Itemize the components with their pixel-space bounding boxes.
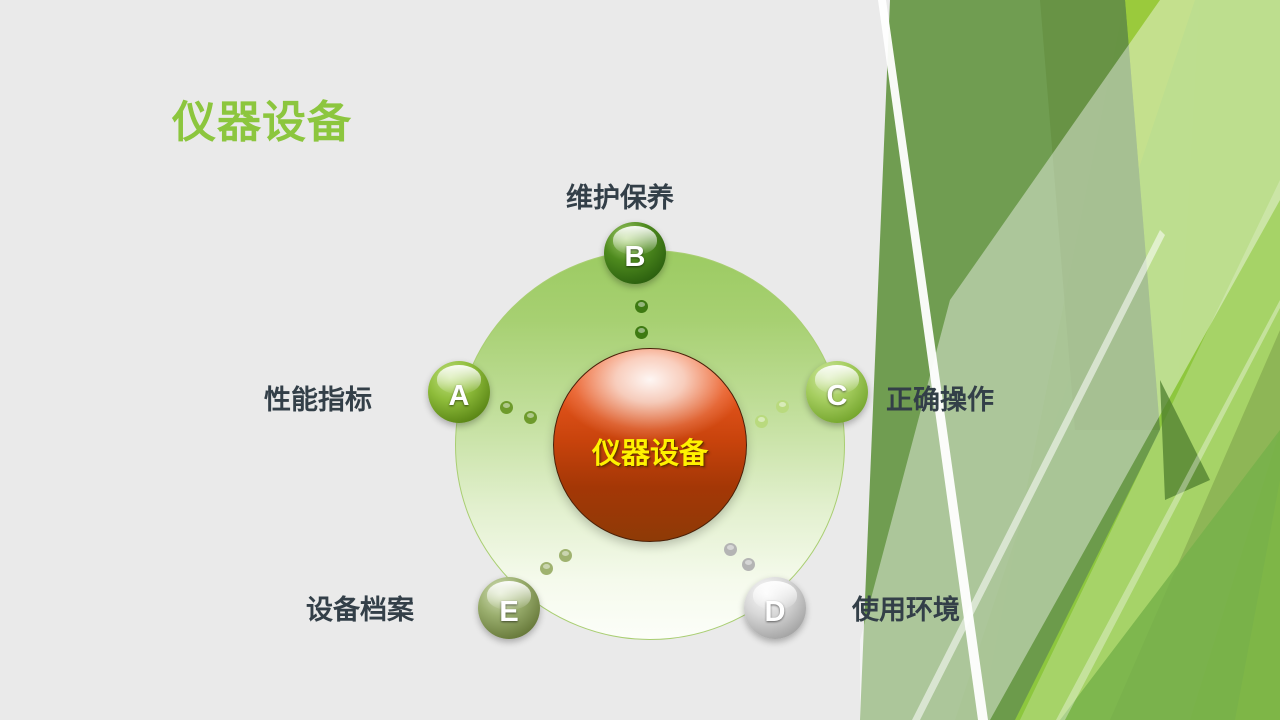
node-b[interactable]: B [604, 222, 666, 284]
node-c[interactable]: C [806, 361, 868, 423]
connector-dot-b-2 [635, 326, 648, 339]
connector-dot-a-2 [524, 411, 537, 424]
connector-dot-c-1 [776, 400, 789, 413]
node-a-letter: A [449, 380, 470, 413]
connector-dot-b-1 [635, 300, 648, 313]
node-e-label: 设备档案 [306, 588, 414, 627]
node-a[interactable]: A [428, 361, 490, 423]
center-node-label: 仪器设备 [592, 430, 708, 472]
connector-dot-c-2 [755, 415, 768, 428]
center-node[interactable]: 仪器设备 [553, 348, 747, 542]
connector-dot-e-1 [559, 549, 572, 562]
node-e-letter: E [499, 596, 518, 629]
node-c-label: 正确操作 [886, 378, 994, 417]
node-e[interactable]: E [478, 577, 540, 639]
connector-dot-d-1 [724, 543, 737, 556]
node-d-label: 使用环境 [852, 588, 960, 627]
connector-dot-d-2 [742, 558, 755, 571]
node-c-letter: C [827, 380, 848, 413]
slide-canvas: 仪器设备 仪器设备 A B C D [0, 0, 1280, 720]
node-d-letter: D [765, 596, 786, 629]
node-b-label: 维护保养 [566, 176, 674, 215]
hub-and-spoke-diagram: 仪器设备 A B C D E 性能指标 维护保养 正确操作 使用环境 设备档案 [0, 0, 1280, 720]
connector-dot-a-1 [500, 401, 513, 414]
node-a-label: 性能指标 [264, 378, 372, 417]
node-b-letter: B [625, 241, 646, 274]
connector-dot-e-2 [540, 562, 553, 575]
node-d[interactable]: D [744, 577, 806, 639]
